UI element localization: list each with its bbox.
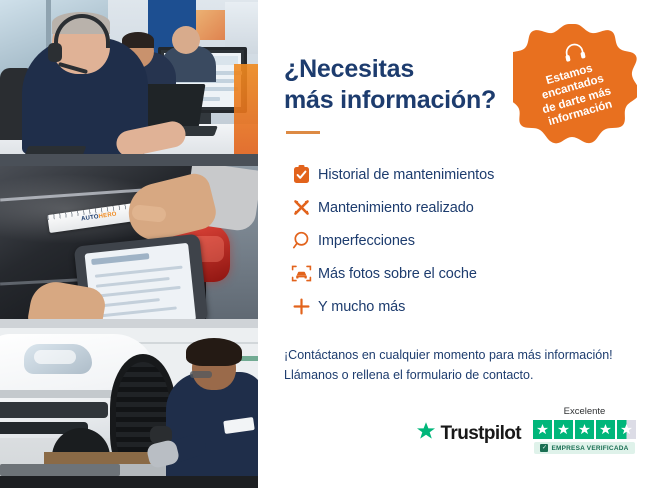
mechanic-wheel-photo: [0, 328, 258, 488]
brand-part-hero: HERO: [98, 212, 117, 220]
contact-line-1: ¡Contáctanos en cualquier momento para m…: [284, 348, 613, 362]
star-filled: [596, 420, 615, 439]
list-item-label: Más fotos sobre el coche: [318, 266, 477, 282]
headlight-glass: [34, 350, 76, 364]
list-item: Más fotos sobre el coche: [284, 257, 650, 290]
tablet-row: [98, 298, 160, 307]
verified-badge: ✓ EMPRESA VERIFICADA: [534, 442, 634, 454]
headset-earcup: [48, 43, 62, 62]
plus-icon: [284, 297, 318, 316]
car-inspection-ruler-photo: AUTOHERO: [0, 166, 258, 328]
foreground-shadow: [0, 154, 258, 166]
photo-bottom-strip: [0, 319, 258, 328]
verified-label: EMPRESA VERIFICADA: [551, 445, 628, 452]
car-viewfinder-icon: [284, 264, 318, 283]
clipboard-check-icon: [284, 165, 318, 184]
status-badge: Estamos encantados de darte más informac…: [513, 20, 637, 144]
tablet-screen-header: [91, 253, 149, 265]
list-item-label: Imperfecciones: [318, 233, 415, 249]
list-item: Historial de mantenimientos: [284, 158, 650, 191]
list-item: Mantenimiento realizado: [284, 191, 650, 224]
background-person-head: [172, 26, 200, 54]
content-panel: ¿Necesitas más información? Historial de…: [258, 0, 650, 488]
tablet-row: [97, 286, 181, 298]
car-grille: [0, 402, 108, 418]
title-divider: [286, 131, 320, 134]
trustpilot-widget[interactable]: Trustpilot Excelente: [416, 406, 636, 454]
trustpilot-star-icon: [416, 421, 436, 446]
trustpilot-logo: Trustpilot: [416, 421, 521, 454]
star-filled: [533, 420, 552, 439]
trustpilot-rating: Excelente: [533, 406, 636, 454]
star-half: [617, 420, 636, 439]
car-bumper: [0, 390, 124, 398]
promo-card: AUTOHERO: [0, 0, 650, 488]
list-item-label: Y mucho más: [318, 299, 405, 315]
contact-text: ¡Contáctanos en cualquier momento para m…: [284, 345, 650, 386]
list-item: Imperfecciones: [284, 224, 650, 257]
tablet-row: [99, 306, 177, 317]
wall-poster-orange: [196, 10, 226, 40]
tools-icon: [284, 198, 318, 217]
headline-line-2: más información?: [284, 86, 496, 114]
orange-signage: [234, 64, 258, 154]
magnifier-icon: [284, 231, 318, 250]
workshop-floor: [0, 476, 258, 488]
brand-part-auto: AUTO: [81, 214, 99, 222]
photo-collage: AUTOHERO: [0, 0, 258, 488]
list-item: Y mucho más: [284, 290, 650, 323]
tablet-row: [95, 266, 183, 278]
headline-line-1: ¿Necesitas: [284, 55, 414, 83]
contact-line-2: Llámanos o rellena el formulario de cont…: [284, 368, 533, 382]
list-item-label: Mantenimiento realizado: [318, 200, 474, 216]
rating-label: Excelente: [564, 406, 606, 417]
call-center-agents-photo: [0, 0, 258, 166]
trustpilot-wordmark: Trustpilot: [440, 423, 521, 445]
safety-glasses: [190, 371, 212, 378]
star-filled: [554, 420, 573, 439]
check-icon: ✓: [540, 444, 548, 452]
car-lift-arm: [0, 464, 120, 476]
star-rating: [533, 420, 636, 439]
tablet-row: [96, 277, 170, 288]
star-filled: [575, 420, 594, 439]
mechanic-hair: [186, 338, 242, 366]
feature-list: Historial de mantenimientos M: [284, 158, 650, 323]
list-item-label: Historial de mantenimientos: [318, 167, 494, 183]
